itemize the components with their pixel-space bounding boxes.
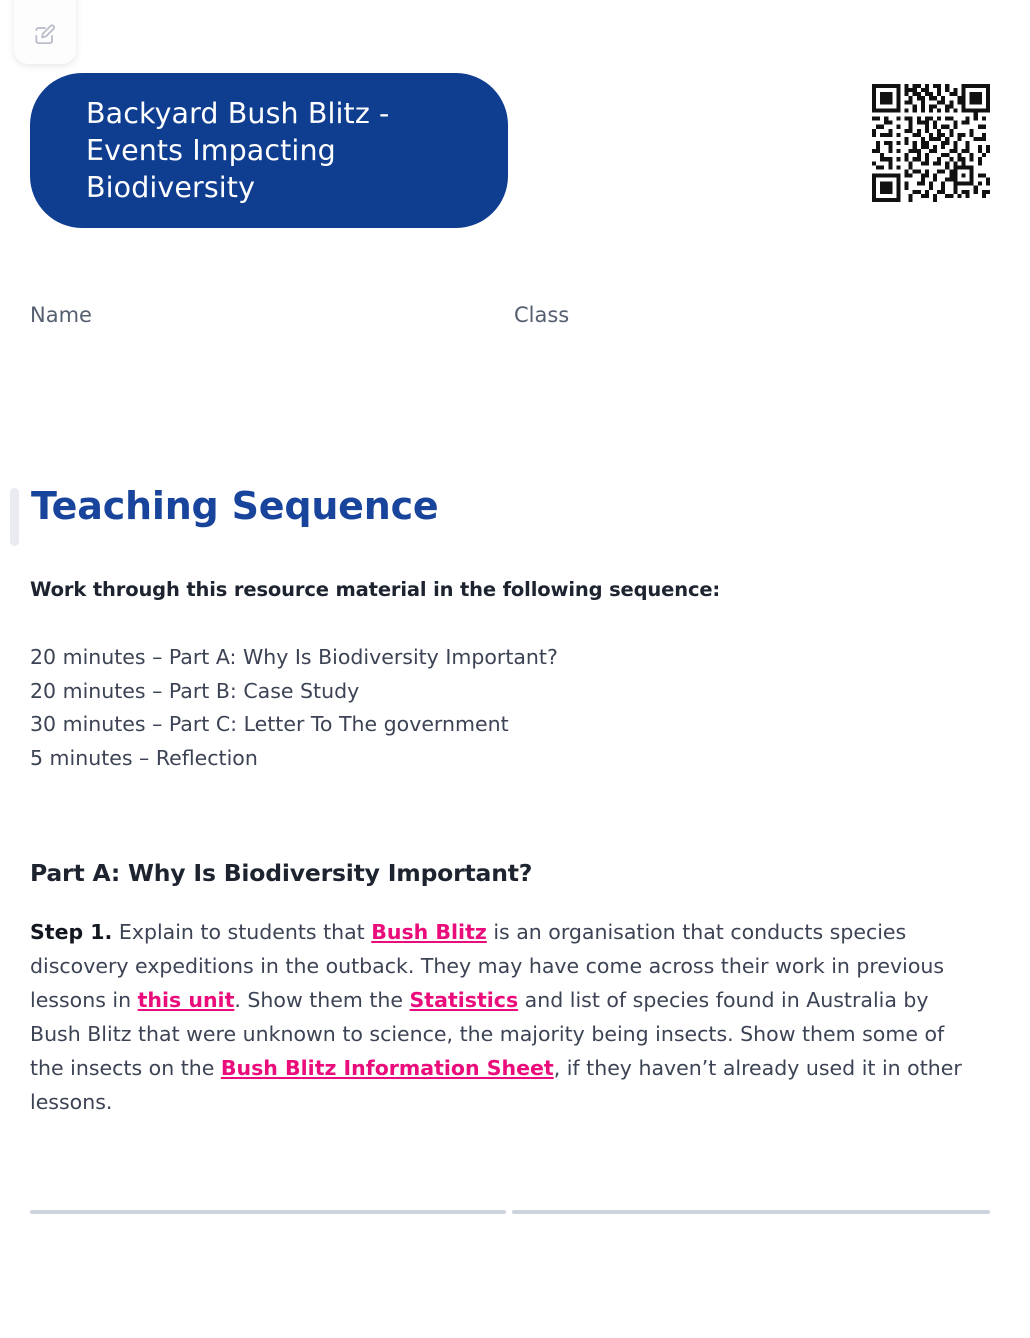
step-text-1: Explain to students that [112, 920, 371, 944]
class-field-label: Class [514, 300, 569, 330]
list-item: 30 minutes – Part C: Letter To The gover… [30, 708, 970, 742]
edit-pencil-square-icon [32, 22, 58, 48]
student-fields-row: Name Class [30, 300, 990, 334]
list-item: 20 minutes – Part A: Why Is Biodiversity… [30, 641, 970, 675]
qr-code-image [872, 84, 990, 202]
link-bush-blitz-information-sheet[interactable]: Bush Blitz Information Sheet [221, 1056, 554, 1080]
page-title: Backyard Bush Blitz - Events Impacting B… [86, 95, 468, 206]
edit-button[interactable] [14, 0, 76, 64]
step-text-3: . Show them the [234, 988, 409, 1012]
list-item: 5 minutes – Reflection [30, 742, 970, 776]
main-content: Work through this resource material in t… [30, 578, 970, 1119]
teaching-sequence-section-header: Teaching Sequence [0, 487, 1000, 549]
qr-code[interactable] [872, 84, 990, 202]
section-title: Teaching Sequence [31, 484, 439, 528]
section-accent-bar [10, 488, 19, 546]
list-item: 20 minutes – Part B: Case Study [30, 675, 970, 709]
link-this-unit[interactable]: this unit [138, 988, 235, 1012]
footer-divider-left [30, 1210, 506, 1214]
part-a-step-1-paragraph: Step 1. Explain to students that Bush Bl… [30, 915, 970, 1119]
footer-divider-right [512, 1210, 990, 1214]
sequence-list: 20 minutes – Part A: Why Is Biodiversity… [30, 641, 970, 775]
link-bush-blitz[interactable]: Bush Blitz [371, 920, 487, 944]
link-statistics[interactable]: Statistics [410, 988, 519, 1012]
part-a-heading: Part A: Why Is Biodiversity Important? [30, 859, 970, 887]
sequence-intro: Work through this resource material in t… [30, 578, 970, 601]
name-field-label: Name [30, 300, 92, 330]
step-label: Step 1. [30, 920, 112, 944]
document-title-banner: Backyard Bush Blitz - Events Impacting B… [30, 73, 508, 228]
